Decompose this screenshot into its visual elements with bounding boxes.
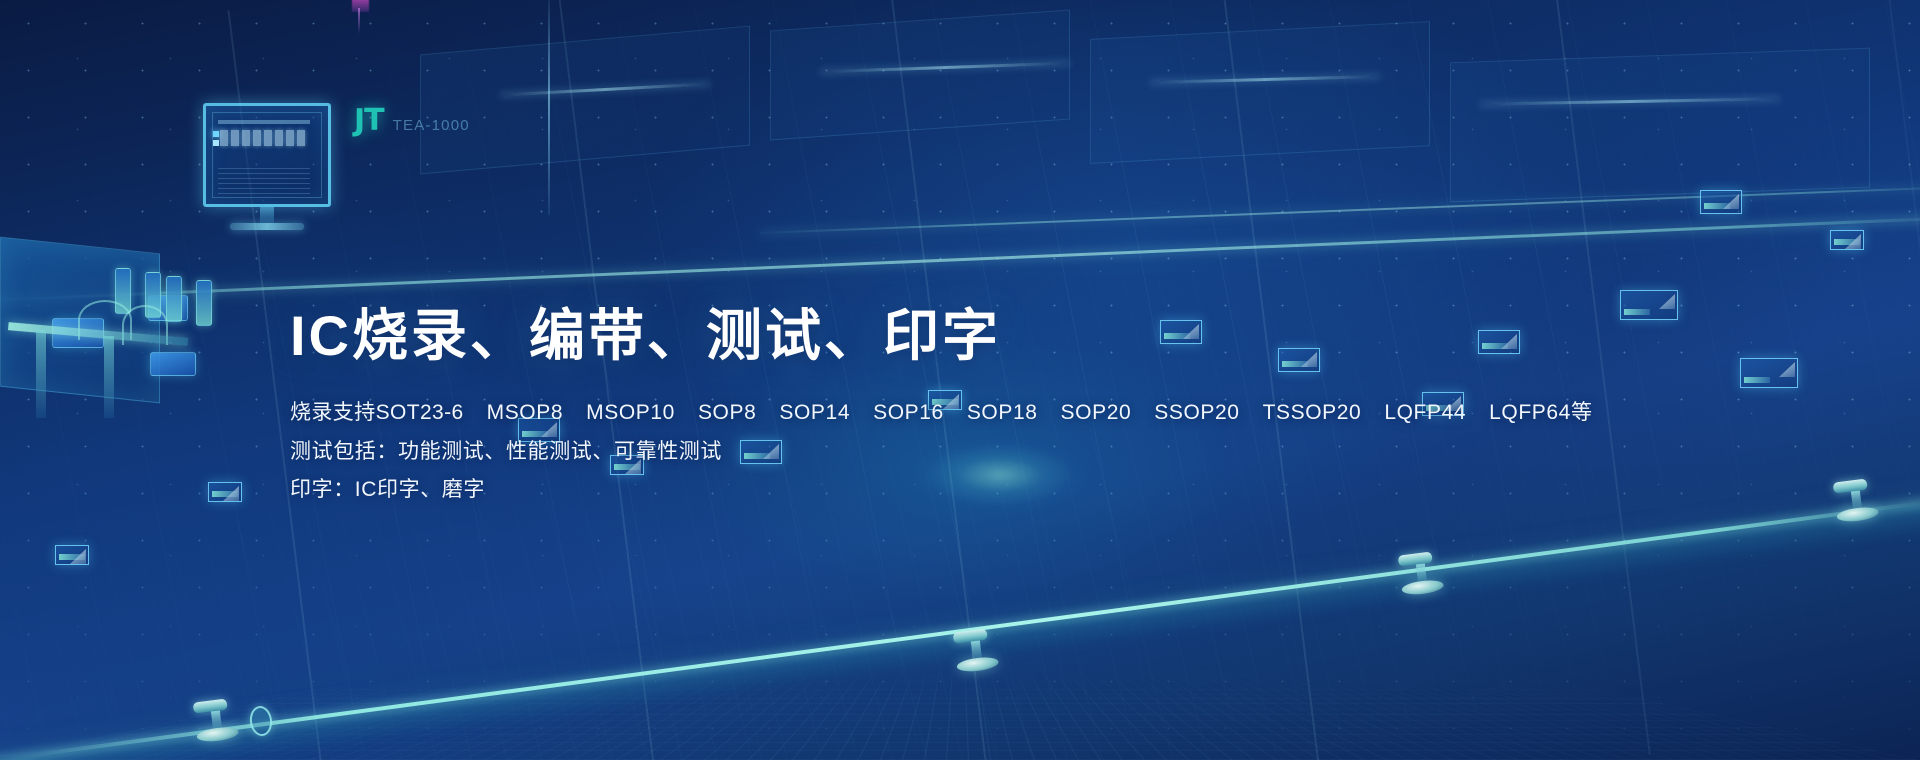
machine-post [36, 330, 46, 418]
wall-panel [1450, 48, 1870, 203]
wall-panel [1090, 21, 1430, 164]
machine-post [104, 336, 114, 418]
testing-scope-line: 测试包括：功能测试、性能测试、可靠性测试 [290, 433, 1590, 472]
package-label: SOP16 [873, 394, 944, 433]
foot-base [1401, 578, 1444, 596]
package-label: TSSOP20 [1263, 394, 1362, 433]
foot-stem [210, 711, 221, 729]
page-title: IC烧录、编带、测试、印字 [290, 305, 1590, 368]
machine-body [0, 237, 160, 404]
package-label: MSOP8 [487, 394, 564, 433]
monitor-chip-row [220, 130, 305, 146]
foot-stem [1415, 564, 1426, 582]
foot-base [1836, 505, 1879, 523]
foot-cap [1833, 479, 1868, 494]
conveyor-foot [953, 628, 1000, 674]
package-label: SOP18 [967, 394, 1038, 433]
mid-conveyor-rail [0, 216, 1920, 303]
machine-nozzle [166, 276, 182, 322]
marking-scope-line: 印字：IC印字、磨字 [290, 471, 1590, 510]
machine-nozzle [115, 268, 131, 314]
package-label: LQFP44 [1384, 394, 1466, 433]
control-monitor [203, 103, 331, 230]
monitor-data-rows [218, 168, 310, 194]
conveyor-foot [1398, 551, 1445, 597]
foot-cap [953, 629, 988, 644]
monitor-support-pole [548, 0, 550, 215]
conveyor-foot [1833, 478, 1880, 524]
jt-logo-text: JT [354, 103, 384, 138]
package-label: MSOP10 [586, 394, 675, 433]
chip-tray-icon [208, 482, 242, 502]
chip-tray-icon [1700, 190, 1742, 214]
machine-hose [78, 300, 132, 340]
monitor-led-indicator [213, 140, 219, 146]
circuit-grid-floor [0, 669, 1920, 760]
conveyor-roller [248, 705, 273, 737]
machine-module [148, 295, 188, 321]
foot-base [196, 725, 239, 743]
front-conveyor-rail [0, 498, 1920, 760]
hero-banner: JT TEA-1000 IC烧录、编带、测试、印字 烧录支持SOT23-6 MS… [0, 0, 1920, 760]
banner-content: IC烧录、编带、测试、印字 烧录支持SOT23-6 MSOP8 MSOP10 S… [290, 305, 1590, 510]
package-label: SOP14 [779, 394, 850, 433]
monitor-stand [230, 223, 304, 230]
chip-tray-icon [1620, 290, 1678, 320]
foot-cap [193, 699, 228, 714]
foot-stem [1850, 491, 1861, 509]
foot-base [956, 655, 999, 673]
package-label: SSOP20 [1154, 394, 1239, 433]
ceiling-light-fixture [500, 83, 710, 97]
chip-tray-icon [55, 545, 89, 565]
conveyor-foot [193, 698, 240, 744]
package-label: SOP8 [698, 394, 756, 433]
monitor-led-indicator [213, 131, 219, 137]
monitor-title-bar [218, 120, 310, 124]
magenta-artifact-stem [358, 8, 360, 34]
overhead-rail [760, 186, 1920, 234]
magenta-artifact [352, 0, 369, 12]
machine-nozzle [145, 272, 161, 318]
monitor-bezel-inner [212, 112, 322, 198]
machine-model-label: TEA-1000 [393, 117, 470, 134]
machine-hose [122, 305, 168, 345]
subtitle-group: 烧录支持SOT23-6 MSOP8 MSOP10 SOP8 SOP14 SOP1… [290, 394, 1590, 511]
foot-stem [970, 641, 981, 659]
foot-cap [1398, 552, 1433, 567]
wall-panel [420, 26, 750, 175]
ceiling-light-fixture [1150, 75, 1380, 84]
machine-module [52, 318, 104, 348]
monitor-neck [260, 207, 274, 223]
package-label: SOP20 [1061, 394, 1132, 433]
ceiling-light-fixture [820, 62, 1070, 74]
package-label: LQFP64等 [1489, 394, 1592, 433]
chip-tray-icon [1740, 358, 1798, 388]
wall-panel [770, 10, 1070, 141]
ceiling-light-fixture [1480, 97, 1780, 105]
machine-brand-lockup: JT TEA-1000 [354, 103, 470, 138]
chip-tray-icon [1830, 230, 1864, 250]
package-support-line: 烧录支持SOT23-6 MSOP8 MSOP10 SOP8 SOP14 SOP1… [290, 394, 1590, 433]
machine-nozzle [196, 280, 212, 326]
machine-rail [8, 322, 188, 346]
conveyor-shadow [0, 500, 1920, 760]
burn-in-lead-label: 烧录支持SOT23-6 [290, 394, 464, 433]
monitor-screen [203, 103, 331, 207]
machine-module [150, 352, 196, 376]
